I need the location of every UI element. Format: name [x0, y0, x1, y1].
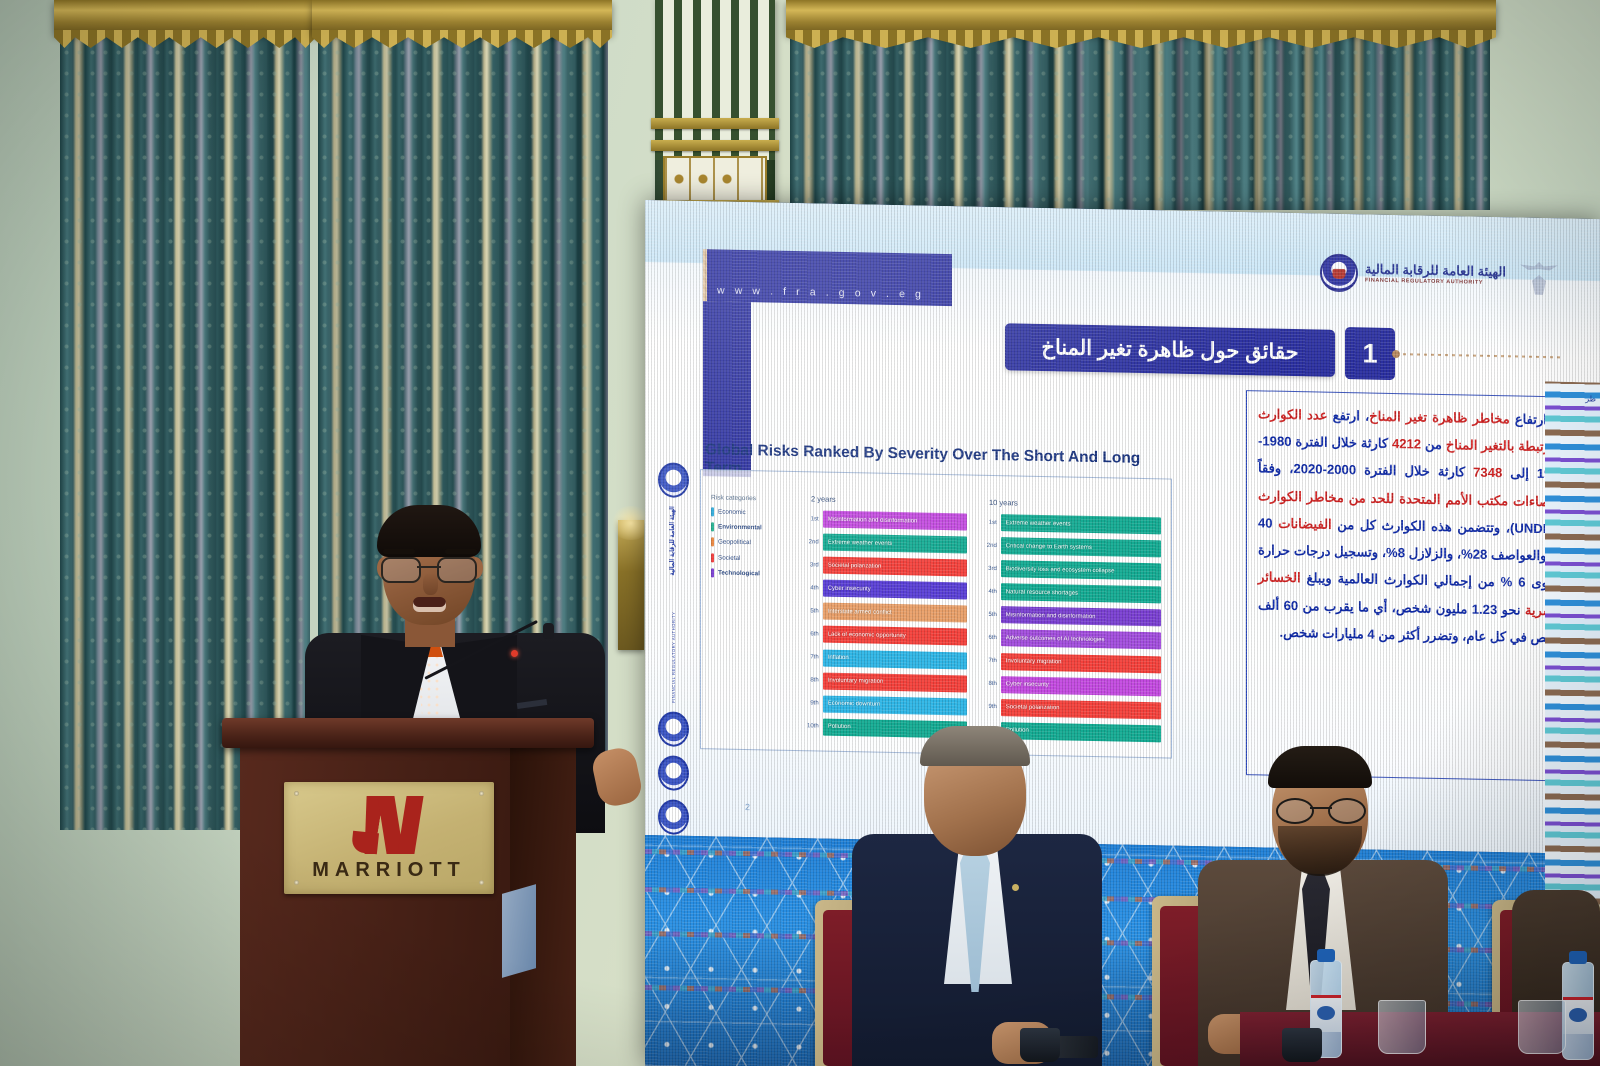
chart-bar-label: Cyber insecurity — [1006, 681, 1049, 688]
body-segment-4: من — [1421, 437, 1446, 452]
chart-bar: Cyber insecurity — [1001, 676, 1161, 696]
chart-bar-row: 1stMisinformation and disinformation — [807, 510, 967, 530]
chart-bar-label: Inflation — [828, 655, 849, 661]
chart-bar-row: 2ndExtreme weather events — [807, 533, 967, 553]
panelist-one — [852, 726, 1102, 1066]
chart-bar-rank: 7th — [807, 654, 819, 660]
chart-legend-item-3: Societal — [711, 553, 797, 564]
chart-legend-label: Geopolitical — [718, 539, 751, 547]
chart-bar-rank: 7th — [985, 658, 997, 664]
chart-bars-10-years: 1stExtreme weather events2ndCritical cha… — [985, 514, 1161, 748]
chart-bar-label: Critical change to Earth systems — [1006, 543, 1092, 551]
coffee-mug-2 — [1020, 1028, 1060, 1062]
body-segment-1: مخاطر ظاهرة تغير المناخ — [1369, 409, 1510, 427]
chart-bar-row: 8thCyber insecurity — [985, 675, 1161, 696]
chart-bar-row: 3rdSocietal polarization — [807, 556, 967, 576]
chart-bar-rank: 8th — [807, 677, 819, 683]
chart-legend-swatch — [711, 523, 714, 532]
slide-dotted-rule — [1396, 353, 1564, 358]
chart-bar-label: Biodiversity loss and ecosystem collapse — [1006, 566, 1115, 574]
speaker-nose — [423, 573, 438, 595]
chart-legend-swatch — [711, 538, 714, 547]
speaker-mouth — [413, 597, 446, 612]
lectern-body: MARRIOTT — [240, 747, 576, 1066]
chart-bars-2-years: 1stMisinformation and disinformation2ndE… — [807, 510, 967, 744]
curtain-pelmet-right — [786, 0, 1496, 34]
chart-bar-row: 9thSocietal polarization — [985, 699, 1161, 720]
chart-bar: Biodiversity loss and ecosystem collapse — [1001, 560, 1161, 580]
chart-bar-label: Involuntary migration — [828, 678, 884, 685]
chart-bar-row: 3rdBiodiversity loss and ecosystem colla… — [985, 560, 1161, 581]
chart-bar: Involuntary migration — [823, 672, 967, 692]
chart-bar: Inflation — [823, 649, 967, 669]
chart-bar-row: 5thMisinformation and disinformation — [985, 606, 1161, 627]
chart-bar-row: 4thNatural resource shortages — [985, 583, 1161, 604]
chart-legend-item-1: Environmental — [711, 523, 797, 534]
chart-legend-swatch — [711, 507, 714, 516]
chart-bar-row: 4thCyber insecurity — [807, 580, 967, 600]
body-segment-5: 4212 — [1392, 436, 1421, 452]
chart-bar-row: 7thInflation — [807, 649, 967, 669]
body-segment-11: الفيضانات — [1278, 516, 1332, 532]
chart-bar-row: 5thInterstate armed conflict — [807, 603, 967, 623]
chart-bar: Critical change to Earth systems — [1001, 537, 1161, 557]
drinking-glass-2 — [1518, 1000, 1566, 1054]
speaker-brow-left — [383, 549, 415, 554]
chart-bar-rank: 9th — [807, 701, 819, 707]
chart-bar-label: Involuntary migration — [1006, 658, 1062, 665]
chart-legend-swatch — [711, 568, 714, 577]
slide-page-number: 2 — [745, 802, 750, 812]
microphone-head-icon — [543, 623, 554, 639]
chart-bar: Cyber insecurity — [823, 580, 967, 600]
fra-seal-icon — [1320, 254, 1358, 293]
global-risks-chart: Risk categories EconomicEnvironmentalGeo… — [700, 469, 1172, 758]
body-segment-9: لإحصاءات مكتب الأمم المتحدة للحد من مخاط… — [1258, 488, 1566, 509]
chart-bar-label: Pollution — [828, 724, 851, 730]
fra-logo: الهيئة العامة للرقابة المالية FINANCIAL … — [1320, 252, 1560, 299]
curtain-pelmet-left — [54, 0, 316, 34]
chart-bar-rank: 2nd — [985, 542, 997, 548]
partner-logo-strip: الهيئة العامة للرقابة المالية FINANCIAL … — [653, 462, 693, 879]
chart-bar: Extreme weather events — [1001, 514, 1161, 534]
panelist-one-lapel-pin — [1012, 884, 1019, 891]
chart-bar-label: Natural resource shortages — [1006, 589, 1078, 596]
slide-section-number-chip: 1 — [1345, 327, 1395, 380]
chart-column-header-2y: 2 years — [811, 494, 836, 503]
chart-bar: Involuntary migration — [1001, 653, 1161, 673]
chart-bar-label: Misinformation and disinformation — [1006, 612, 1096, 620]
chart-bar: Extreme weather events — [823, 534, 967, 554]
body-segment-10: (UNDRR)، وتتضمن هذه الكوارث كل من — [1332, 517, 1566, 537]
body-segment-2: ، ارتفع — [1328, 408, 1370, 424]
chart-bar-row: 7thInvoluntary migration — [985, 652, 1161, 673]
chart-bar-row: 9thEconomic downturn — [807, 695, 967, 715]
chart-legend: Risk categories EconomicEnvironmentalGeo… — [711, 494, 797, 585]
chart-bar-rank: 9th — [985, 704, 997, 710]
chart-bar-rank: 4th — [807, 585, 819, 591]
fra-name-english-vertical: FINANCIAL REGULATORY AUTHORITY — [671, 612, 676, 703]
chart-legend-label: Societal — [718, 554, 740, 561]
chart-legend-item-0: Economic — [711, 507, 797, 518]
chart-column-header-10y: 10 years — [989, 498, 1018, 508]
slide-title-chip: حقائق حول ظاهرة تغير المناخ — [1005, 323, 1335, 377]
chart-bar: Natural resource shortages — [1001, 583, 1161, 603]
chart-bar-row: 6thLack of economic opportunity — [807, 626, 967, 646]
microphone-led-indicator — [511, 650, 518, 657]
marriott-plaque: MARRIOTT — [284, 782, 494, 894]
chart-bar-label: Misinformation and disinformation — [828, 516, 918, 524]
chart-bar-rank: 2nd — [807, 539, 819, 545]
body-segment-8: كارثة خلال الفترة 2000-2020، وفقاً — [1258, 461, 1473, 480]
chart-bar: Interstate armed conflict — [823, 603, 967, 623]
chart-legend-label: Environmental — [718, 524, 762, 532]
chart-bar: Economic downturn — [823, 695, 967, 715]
chart-bar-rank: 6th — [807, 631, 819, 637]
slide-title-text: حقائق حول ظاهرة تغير المناخ — [1041, 335, 1298, 365]
chart-bar-label: Interstate armed conflict — [828, 609, 892, 616]
chart-bar: Adverse outcomes of AI technologies — [1001, 630, 1161, 650]
chart-bar-row: 8thInvoluntary migration — [807, 672, 967, 692]
chart-bar-row: 6thAdverse outcomes of AI technologies — [985, 629, 1161, 650]
chart-bar-rank: 4th — [985, 589, 997, 595]
partner-seal-icon-3 — [658, 756, 689, 792]
body-segment-14: نحو 1.23 مليون شخص، أي ما يقرب من 60 ألف… — [1258, 597, 1566, 645]
curtain-pelmet-center — [312, 0, 612, 34]
chart-legend-label: Economic — [718, 508, 746, 516]
lectern-monitor — [502, 884, 536, 978]
egypt-eagle-icon — [1518, 256, 1560, 299]
slide-body-paragraph: مع ارتفاع مخاطر ظاهرة تغير المناخ، ارتفع… — [1258, 400, 1566, 651]
chart-bar-label: Economic downturn — [828, 701, 881, 708]
water-bottle-2 — [1562, 962, 1594, 1060]
chart-legend-item-4: Technological — [711, 568, 797, 579]
chart-bar-label: Cyber insecurity — [828, 585, 871, 592]
chart-bar: Societal polarization — [1001, 699, 1161, 719]
coffee-mug — [1282, 1028, 1322, 1062]
chart-bar-rank: 3rd — [807, 562, 819, 568]
chart-legend-label: Technological — [718, 569, 760, 577]
conference-photo-scene: w w w . f r a . g o v . e g الهيئة العام… — [0, 0, 1600, 1066]
adjacent-screen-edge: طر — [1545, 381, 1600, 942]
partner-seal-icon-1 — [658, 462, 689, 498]
drinking-glass-1 — [1378, 1000, 1426, 1054]
chart-bar-rank: 1st — [985, 519, 997, 525]
partner-seal-icon-4 — [658, 800, 689, 836]
panelist-two-hair — [1268, 746, 1372, 788]
chart-bar-label: Societal polarization — [1006, 704, 1060, 711]
fra-wordmark: الهيئة العامة للرقابة المالية FINANCIAL … — [1365, 263, 1506, 287]
chart-bar-rank: 10th — [807, 724, 819, 730]
chart-bar-rank: 8th — [985, 681, 997, 687]
chart-bar: Lack of economic opportunity — [823, 626, 967, 646]
chart-bar-label: Extreme weather events — [828, 539, 893, 546]
chart-bar-rank: 5th — [807, 608, 819, 614]
chart-bar-rank: 1st — [807, 516, 819, 522]
chart-bar-label: Societal polarization — [828, 562, 882, 569]
chart-bar-row: 1stExtreme weather events — [985, 514, 1161, 535]
chart-bar-label: Extreme weather events — [1006, 520, 1071, 527]
lectern: MARRIOTT — [222, 718, 594, 1066]
chart-bar-label: Adverse outcomes of AI technologies — [1006, 635, 1105, 643]
chart-legend-title: Risk categories — [711, 494, 797, 503]
chart-bar-rank: 3rd — [985, 566, 997, 572]
speaker-brow-right — [445, 549, 477, 554]
chart-bar: Misinformation and disinformation — [1001, 607, 1161, 627]
fra-name-english: FINANCIAL REGULATORY AUTHORITY — [1365, 279, 1506, 287]
fra-name-arabic: الهيئة العامة للرقابة المالية — [1365, 263, 1506, 279]
led-presentation-screen: w w w . f r a . g o v . e g الهيئة العام… — [645, 200, 1600, 1066]
slide-surface: w w w . f r a . g o v . e g الهيئة العام… — [645, 200, 1600, 854]
marriott-wordmark: MARRIOTT — [284, 859, 494, 882]
fra-name-arabic-vertical: الهيئة العامة للرقابة المالية — [669, 506, 677, 602]
chart-bar-row: 2ndCritical change to Earth systems — [985, 537, 1161, 558]
partner-seal-icon-2 — [658, 712, 689, 748]
adjacent-screen-label: طر — [1585, 394, 1596, 403]
marriott-m-logo-icon — [352, 796, 426, 854]
chart-bar-rank: 5th — [985, 612, 997, 618]
chart-bar-rank: 6th — [985, 635, 997, 641]
lectern-top — [222, 718, 594, 748]
slide-body-textbox: مع ارتفاع مخاطر ظاهرة تغير المناخ، ارتفع… — [1246, 390, 1578, 782]
panelist-two-glasses-icon — [1276, 798, 1366, 820]
chart-bar: Societal polarization — [823, 557, 967, 577]
chart-bar-label: Lack of economic opportunity — [828, 632, 906, 640]
panelist-one-hair — [920, 726, 1030, 766]
chart-legend-item-2: Geopolitical — [711, 538, 797, 549]
chart-legend-swatch — [711, 553, 714, 562]
chart-bar: Misinformation and disinformation — [823, 511, 967, 531]
slide-section-number: 1 — [1362, 338, 1377, 369]
body-segment-7: 7348 — [1473, 465, 1502, 481]
